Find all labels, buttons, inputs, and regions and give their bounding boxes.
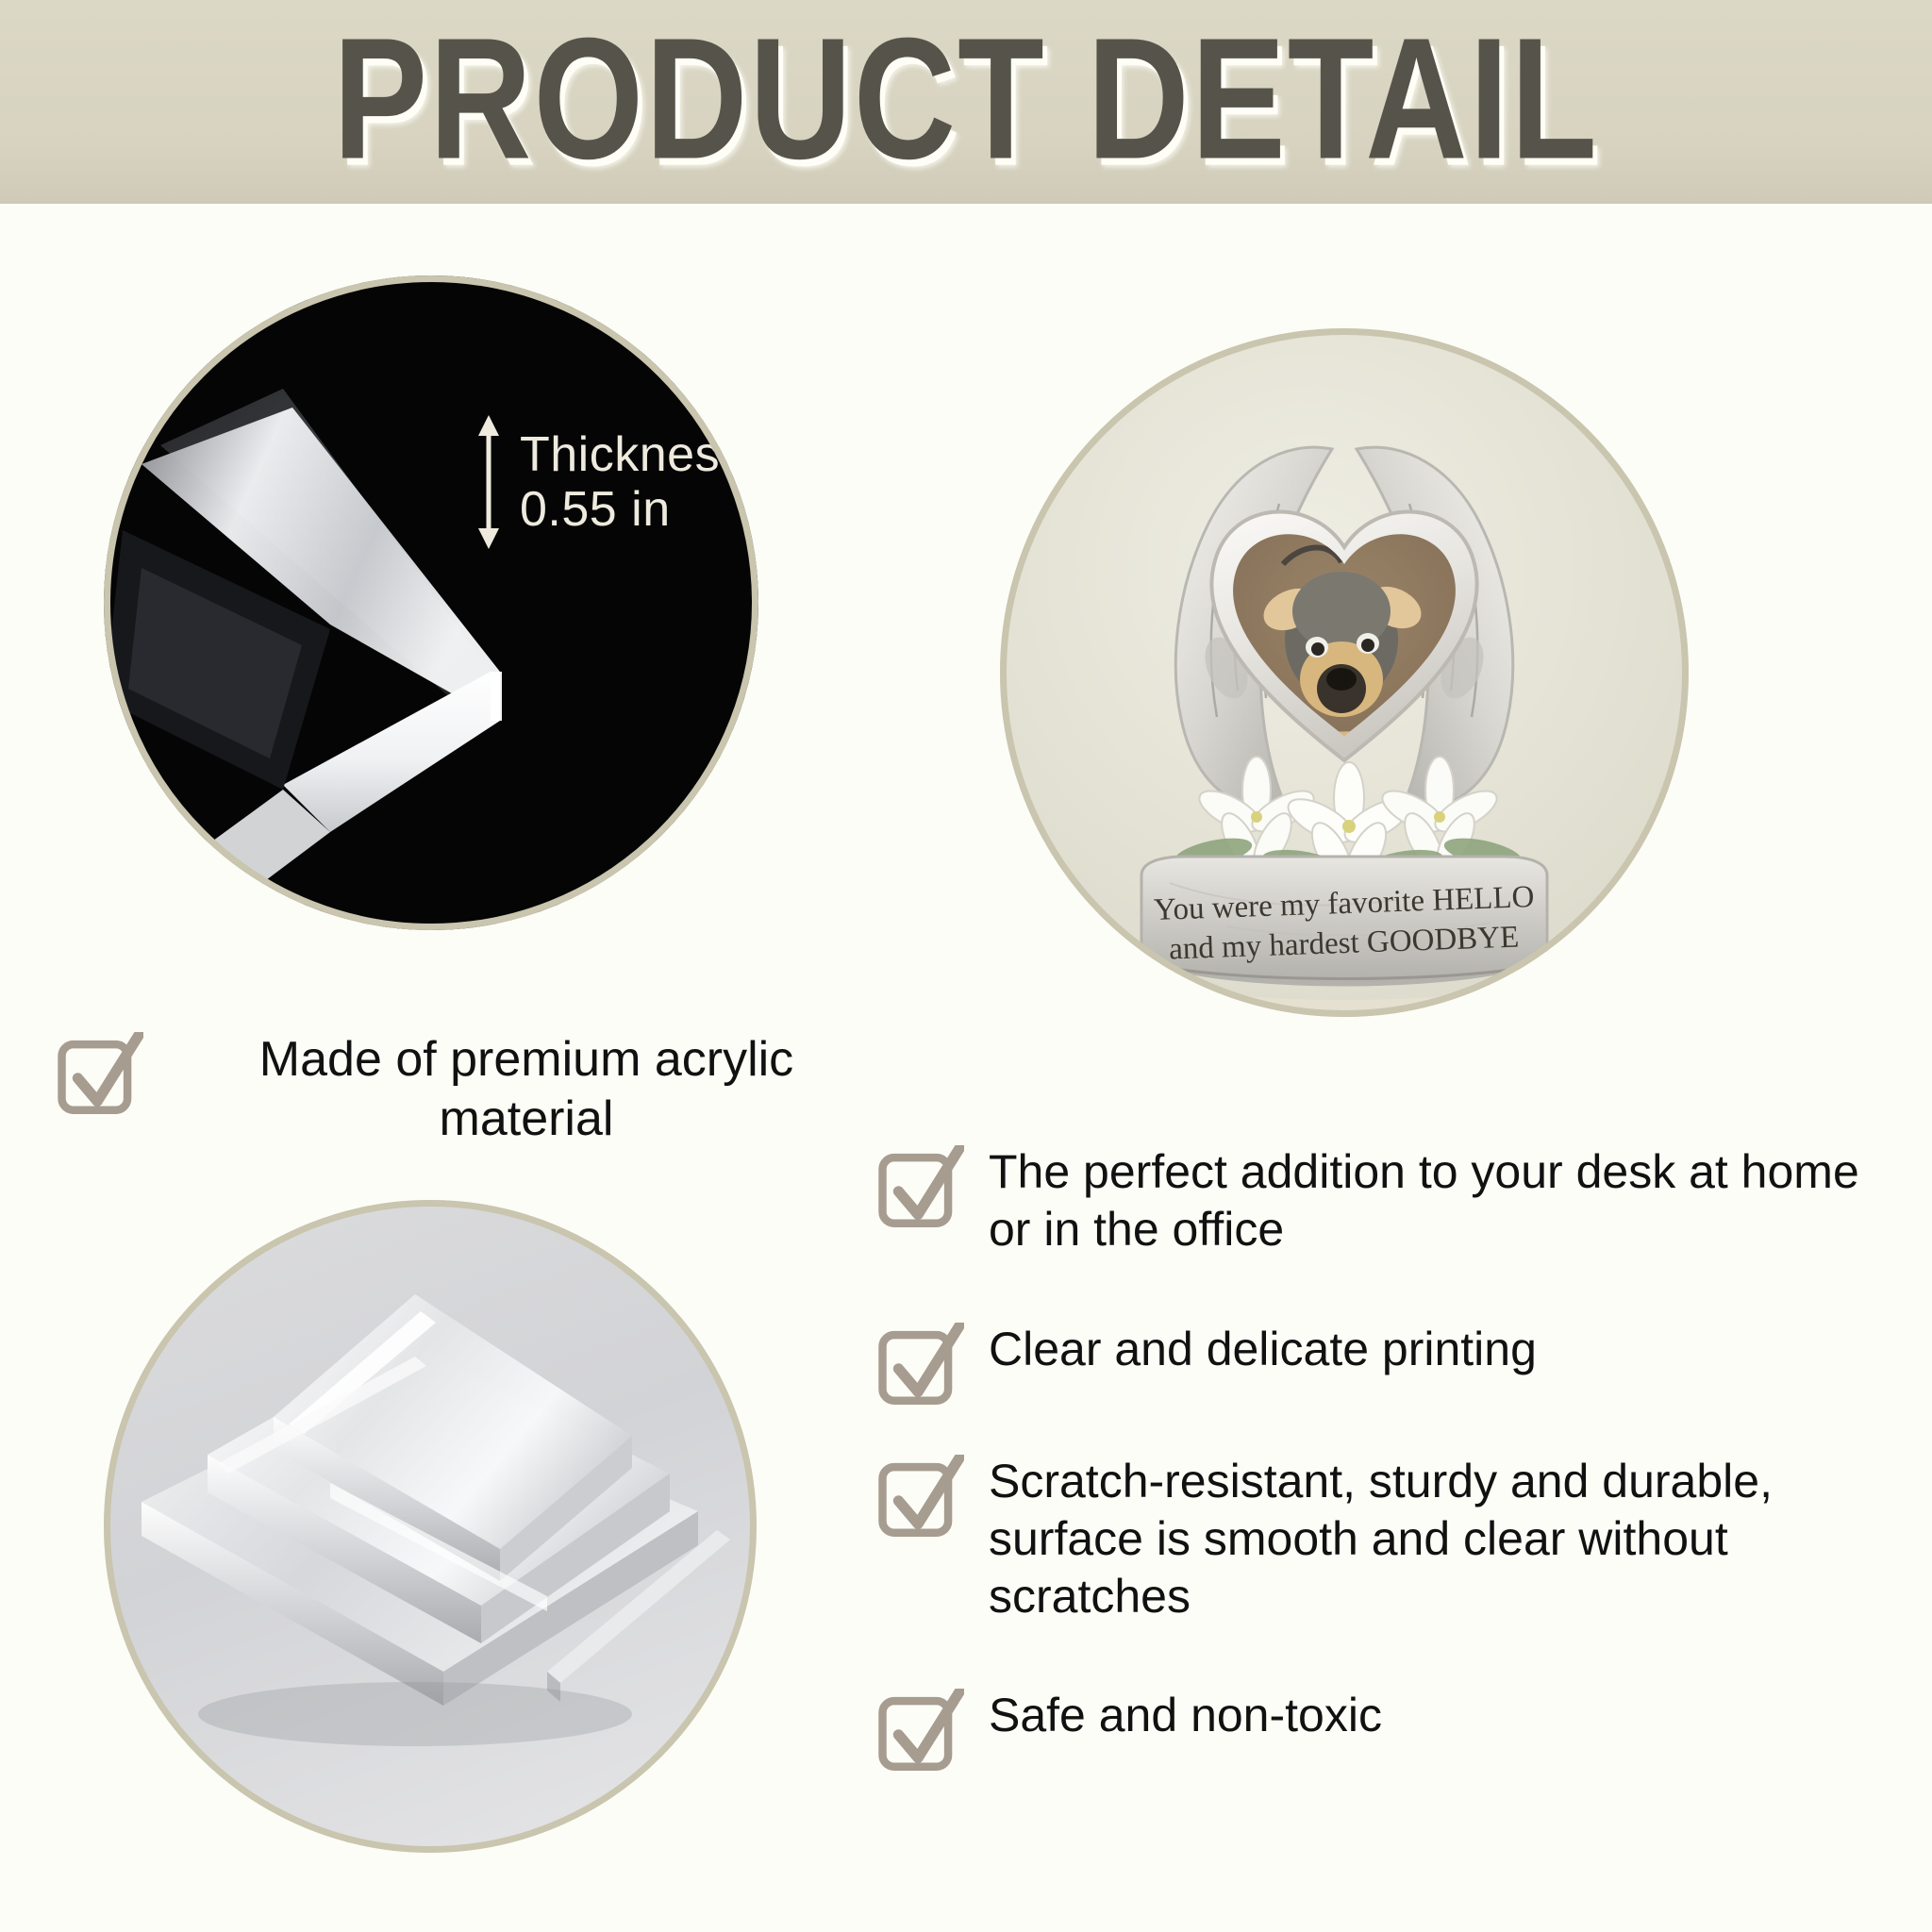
thickness-text: Thickness 0.55 in [520,427,745,537]
feature-label-printing: Clear and delicate printing [989,1321,1537,1378]
acrylic-sheets-illustration [104,1200,757,1853]
thickness-value: 0.55 in [520,482,745,537]
checkbox-checked-icon[interactable] [55,1032,143,1121]
acrylic-sheets-photo [104,1200,757,1853]
checkbox-checked-icon[interactable] [875,1455,964,1543]
header-band: PRODUCT DETAIL [0,0,1932,204]
page-title: PRODUCT DETAIL [333,11,1599,184]
feature-label-desk: The perfect addition to your desk at hom… [989,1143,1904,1258]
memorial-sculpture-illustration: You were my favorite HELLO and my hardes… [1000,328,1689,1017]
dimension-arrow-icon [476,415,501,549]
feature-item-safe: Safe and non-toxic [875,1687,1904,1777]
feature-label-scratch: Scratch-resistant, sturdy and durable, s… [989,1453,1904,1625]
memorial-photo: You were my favorite HELLO and my hardes… [1000,328,1689,1017]
thickness-label: Thickness [520,427,745,482]
checkbox-checked-icon[interactable] [875,1323,964,1411]
thickness-photo: Thickness 0.55 in [104,275,758,930]
feature-item-desk: The perfect addition to your desk at hom… [875,1143,1904,1258]
checkbox-checked-icon[interactable] [875,1145,964,1234]
feature-label-safe: Safe and non-toxic [989,1687,1382,1744]
thickness-callout: Thickness 0.55 in [476,415,745,549]
checkbox-checked-icon[interactable] [875,1689,964,1777]
feature-item-material: Made of premium acrylic material [55,1030,932,1150]
feature-item-scratch: Scratch-resistant, sturdy and durable, s… [875,1453,1904,1625]
feature-label-material: Made of premium acrylic material [168,1030,885,1150]
feature-item-printing: Clear and delicate printing [875,1321,1904,1411]
